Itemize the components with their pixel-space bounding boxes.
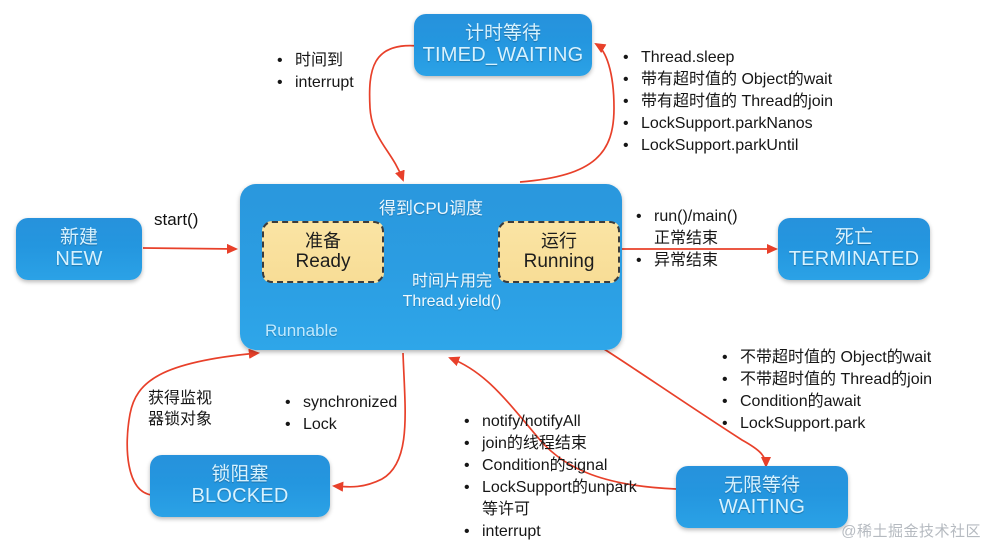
state-waiting[interactable]: 无限等待 WAITING [676, 466, 848, 528]
runnable-yield-label: 时间片用完 Thread.yield() [352, 272, 552, 313]
bullet-icon: • [464, 411, 482, 433]
list-item-label: 正常结束 [654, 228, 718, 250]
edge-new-to-runnable [143, 248, 236, 249]
state-timed-waiting-cn: 计时等待 [465, 23, 541, 44]
edge-label-start: start() [154, 210, 198, 230]
bullet-icon: • [722, 347, 740, 369]
list-item: •notify/notifyAll [464, 411, 637, 433]
bullet-icon: • [277, 50, 295, 72]
substate-running-cn: 运行 [541, 231, 577, 252]
list-item: •run()/main() [636, 206, 738, 228]
bullet-icon: • [464, 477, 482, 499]
list-item: •synchronized [285, 392, 397, 414]
state-waiting-cn: 无限等待 [724, 475, 800, 496]
diagram-canvas: 新建 NEW 计时等待 TIMED_WAITING 死亡 TERMINATED … [0, 0, 989, 545]
state-blocked-cn: 锁阻塞 [211, 464, 268, 485]
list-item: •Condition的await [722, 391, 932, 413]
list-from-timed-waiting: •时间到 •interrupt [277, 50, 354, 94]
list-item-label: run()/main() [654, 206, 738, 228]
list-item: •不带超时值的 Thread的join [722, 369, 932, 391]
list-item: •LockSupport.parkNanos [623, 113, 833, 135]
list-item: •正常结束 [636, 228, 738, 250]
state-blocked-en: BLOCKED [192, 485, 289, 507]
list-item: •interrupt [464, 521, 637, 543]
list-item: •异常结束 [636, 250, 738, 272]
substate-ready-cn: 准备 [305, 231, 341, 252]
runnable-label: Runnable [265, 321, 338, 341]
state-runnable[interactable]: 得到CPU调度 准备 Ready 运行 Running 时间片用完 Thread… [240, 184, 622, 350]
list-item-label: 带有超时值的 Thread的join [641, 91, 833, 113]
list-item-label: 不带超时值的 Thread的join [740, 369, 932, 391]
state-new-cn: 新建 [60, 227, 98, 248]
label-from-blocked: 获得监视 器锁对象 [148, 389, 212, 431]
yield-label-line1: 时间片用完 [352, 272, 552, 292]
substate-ready-en: Ready [296, 251, 351, 273]
list-item-label: 异常结束 [654, 250, 718, 272]
list-item: •join的线程结束 [464, 433, 637, 455]
state-terminated[interactable]: 死亡 TERMINATED [778, 218, 930, 280]
bullet-icon: • [722, 413, 740, 435]
list-item: •带有超时值的 Object的wait [623, 69, 833, 91]
state-terminated-cn: 死亡 [835, 227, 873, 248]
substate-running-en: Running [524, 251, 595, 273]
bullet-icon: • [636, 206, 654, 228]
state-timed-waiting-en: TIMED_WAITING [423, 44, 584, 66]
list-item-label: interrupt [295, 72, 354, 94]
bullet-icon: • [623, 113, 641, 135]
list-item-label: Condition的await [740, 391, 861, 413]
list-item-label: LockSupport的unpark [482, 477, 637, 499]
bullet-icon: • [722, 369, 740, 391]
list-item: •LockSupport.park [722, 413, 932, 435]
list-item-label: 不带超时值的 Object的wait [740, 347, 931, 369]
state-new[interactable]: 新建 NEW [16, 218, 142, 280]
state-blocked[interactable]: 锁阻塞 BLOCKED [150, 455, 330, 517]
yield-label-line2: Thread.yield() [352, 292, 552, 312]
watermark: @稀土掘金技术社区 [841, 520, 981, 541]
list-item-label: Condition的signal [482, 455, 607, 477]
list-item-label: notify/notifyAll [482, 411, 581, 433]
label-from-blocked-line1: 获得监视 [148, 389, 212, 410]
list-item: •Condition的signal [464, 455, 637, 477]
list-item: •等许可 [464, 499, 637, 521]
list-to-terminated: •run()/main() •正常结束 •异常结束 [636, 206, 738, 272]
list-item-label: LockSupport.parkNanos [641, 113, 813, 135]
list-item-label: LockSupport.parkUntil [641, 135, 798, 157]
bullet-icon: • [623, 47, 641, 69]
bullet-icon: • [285, 414, 303, 436]
list-item-label: 等许可 [482, 499, 530, 521]
edge-timedwaiting-to-runnable [370, 46, 418, 180]
list-item-label: interrupt [482, 521, 541, 543]
bullet-icon: • [464, 433, 482, 455]
list-item-label: join的线程结束 [482, 433, 587, 455]
state-timed-waiting[interactable]: 计时等待 TIMED_WAITING [414, 14, 592, 76]
bullet-icon: • [285, 392, 303, 414]
bullet-icon: • [722, 391, 740, 413]
bullet-icon: • [636, 250, 654, 272]
bullet-icon: • [277, 72, 295, 94]
list-item: •Lock [285, 414, 397, 436]
list-item: •interrupt [277, 72, 354, 94]
bullet-icon: • [623, 91, 641, 113]
state-terminated-en: TERMINATED [789, 248, 920, 270]
bullet-icon: • [464, 521, 482, 543]
state-waiting-en: WAITING [719, 496, 805, 518]
list-to-blocked: •synchronized •Lock [285, 392, 397, 436]
list-item: •带有超时值的 Thread的join [623, 91, 833, 113]
state-new-en: NEW [55, 248, 102, 270]
list-to-waiting: •不带超时值的 Object的wait •不带超时值的 Thread的join … [722, 347, 932, 435]
list-item-label: synchronized [303, 392, 397, 414]
bullet-icon: • [464, 455, 482, 477]
list-from-waiting: •notify/notifyAll •join的线程结束 •Condition的… [464, 411, 637, 543]
bullet-icon: • [623, 135, 641, 157]
list-item: •时间到 [277, 50, 354, 72]
list-item: •Thread.sleep [623, 47, 833, 69]
list-item-label: 时间到 [295, 50, 343, 72]
label-from-blocked-line2: 器锁对象 [148, 410, 212, 431]
list-item-label: 带有超时值的 Object的wait [641, 69, 832, 91]
list-item: •不带超时值的 Object的wait [722, 347, 932, 369]
list-item-label: Thread.sleep [641, 47, 734, 69]
bullet-icon: • [623, 69, 641, 91]
list-to-timed-waiting: •Thread.sleep •带有超时值的 Object的wait •带有超时值… [623, 47, 833, 157]
list-item-label: LockSupport.park [740, 413, 865, 435]
runnable-cpu-label: 得到CPU调度 [240, 194, 622, 219]
list-item: •LockSupport的unpark [464, 477, 637, 499]
list-item: •LockSupport.parkUntil [623, 135, 833, 157]
list-item-label: Lock [303, 414, 337, 436]
